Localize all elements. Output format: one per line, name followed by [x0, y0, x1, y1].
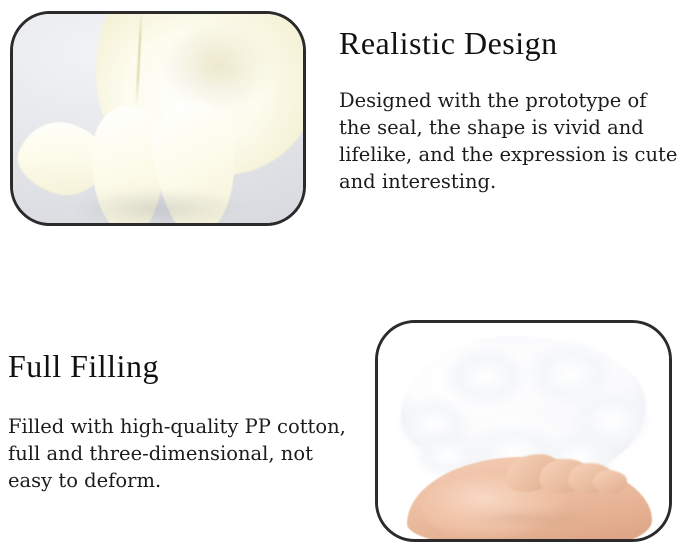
seal-photo-frame [10, 11, 306, 226]
feature-body-full-filling: Filled with high-quality PP cotton, full… [8, 413, 360, 494]
cotton-tuft [442, 345, 529, 410]
filling-photo [378, 323, 669, 539]
product-feature-infographic: Realistic Design Designed with the proto… [0, 0, 679, 547]
filling-photo-frame [375, 320, 672, 542]
seal-photo [13, 14, 303, 223]
feature-block-realistic-design: Realistic Design Designed with the proto… [339, 24, 679, 195]
hand-shadow [441, 508, 617, 529]
feature-heading-realistic-design: Realistic Design [339, 24, 679, 62]
feature-body-realistic-design: Designed with the prototype of the seal,… [339, 87, 679, 195]
feature-heading-full-filling: Full Filling [8, 347, 360, 385]
seal-floor-shadow [36, 181, 280, 223]
feature-block-full-filling: Full Filling Filled with high-quality PP… [8, 347, 360, 494]
